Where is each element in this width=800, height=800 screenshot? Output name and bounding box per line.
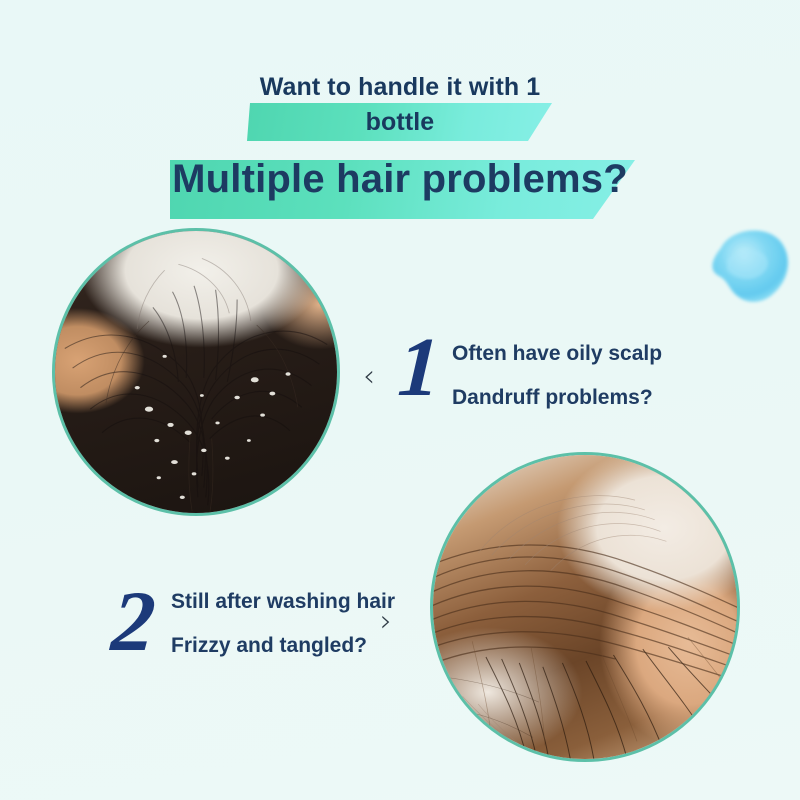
problem-2-line-1: Still after washing hair	[171, 591, 395, 612]
problem-1-line-2: Dandruff problems?	[452, 387, 662, 408]
chevron-right-icon: ›	[380, 607, 392, 637]
problem-text-2: Still after washing hair Frizzy and tang…	[171, 591, 395, 656]
promo-poster: Want to handle it with 1 bottle Multiple…	[0, 0, 800, 800]
header-eyebrow-line-2: bottle	[0, 105, 800, 140]
chevron-left-icon: ‹	[363, 362, 375, 392]
page-title: Multiple hair problems?	[0, 157, 800, 202]
problem-1-line-1: Often have oily scalp	[452, 343, 662, 364]
problem-text-1: Often have oily scalp Dandruff problems?	[452, 343, 662, 408]
header-eyebrow-line-1: Want to handle it with 1	[0, 70, 800, 105]
problem-photo-frizzy	[430, 452, 740, 762]
problem-photo-dandruff	[52, 228, 340, 516]
problem-number-1: 1	[396, 326, 442, 410]
problem-number-2: 2	[109, 578, 158, 664]
blue-water-blob-decoration	[705, 222, 795, 317]
problem-2-line-2: Frizzy and tangled?	[171, 635, 395, 656]
header-eyebrow: Want to handle it with 1 bottle	[0, 70, 800, 140]
